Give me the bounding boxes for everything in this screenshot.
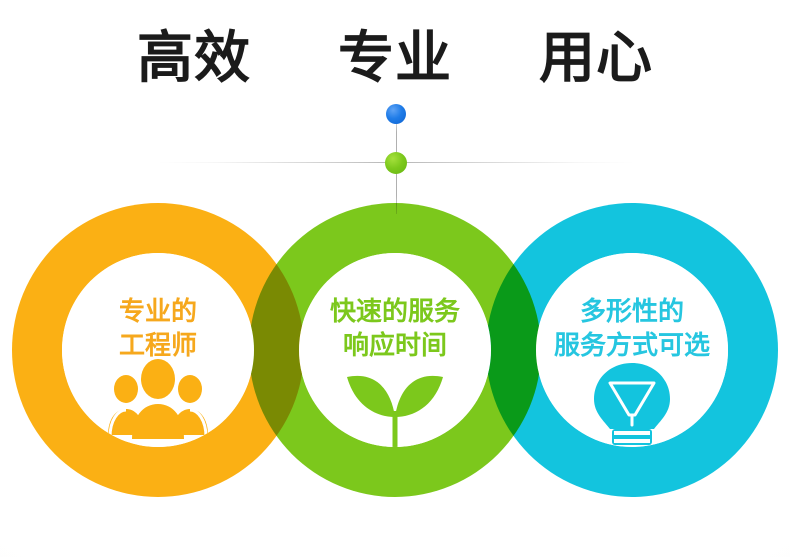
card-engineers-line-1: 专业的 bbox=[62, 295, 254, 329]
card-response-time-line-1: 快速的服务 bbox=[299, 295, 491, 329]
card-engineers-text: 专业的 工程师 bbox=[62, 295, 254, 363]
card-engineers[interactable]: 专业的 工程师 bbox=[62, 253, 254, 447]
card-response-time[interactable]: 快速的服务 响应时间 bbox=[299, 253, 491, 447]
card-response-time-icon-wrap bbox=[299, 355, 491, 447]
card-service-options-line-1: 多形性的 bbox=[536, 295, 728, 329]
sprout-leaf-icon bbox=[299, 355, 491, 447]
card-service-options-icon-wrap bbox=[536, 355, 728, 447]
card-service-options[interactable]: 多形性的 服务方式可选 bbox=[536, 253, 728, 447]
card-engineers-icon-wrap bbox=[62, 359, 254, 447]
card-engineers-line-2: 工程师 bbox=[62, 329, 254, 363]
infographic-canvas: 高效 专业 用心 专业的 工程师 bbox=[0, 0, 790, 557]
card-service-options-text: 多形性的 服务方式可选 bbox=[536, 295, 728, 363]
card-response-time-text: 快速的服务 响应时间 bbox=[299, 295, 491, 363]
people-group-icon bbox=[62, 359, 254, 447]
lightbulb-icon bbox=[536, 355, 728, 447]
